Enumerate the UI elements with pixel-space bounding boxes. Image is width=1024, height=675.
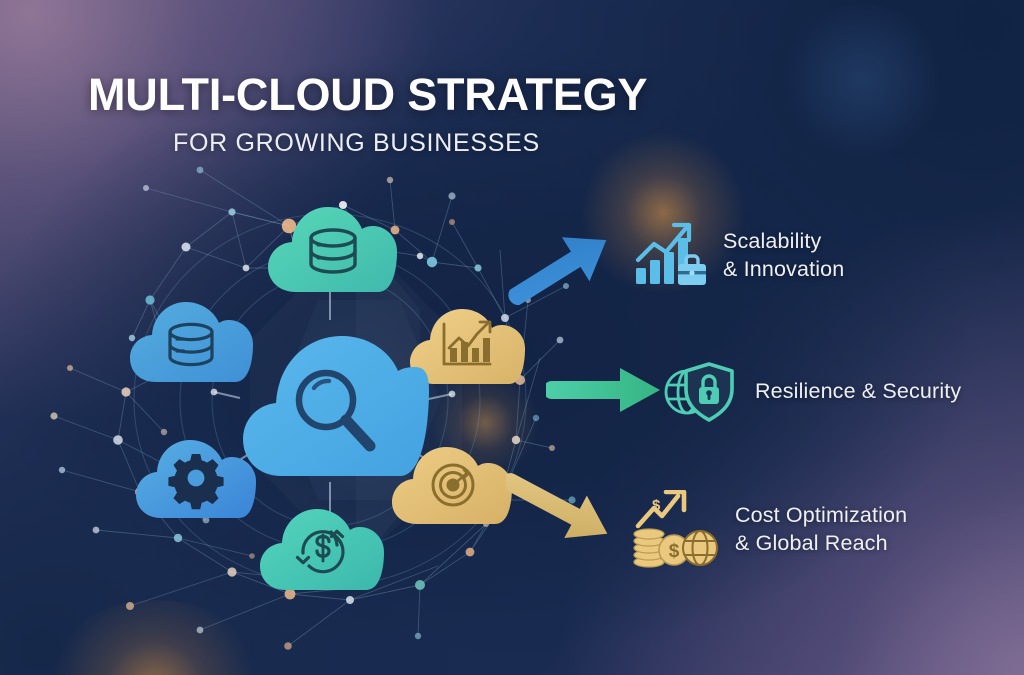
cloud-cost[interactable] xyxy=(258,498,388,598)
title-block: MULTI-CLOUD STRATEGY FOR GROWING BUSINES… xyxy=(88,72,647,158)
page-title: MULTI-CLOUD STRATEGY xyxy=(88,72,647,118)
gear-icon xyxy=(168,454,223,509)
arrow-resilience xyxy=(546,364,666,421)
benefit-label: Scalability & Innovation xyxy=(723,227,844,284)
infographic-canvas: MULTI-CLOUD STRATEGY FOR GROWING BUSINES… xyxy=(0,0,1024,675)
svg-text:$: $ xyxy=(652,497,661,514)
benefit-scalability[interactable]: Scalability & Innovation xyxy=(634,222,844,288)
svg-text:$: $ xyxy=(669,541,680,562)
cloud-database-top[interactable] xyxy=(266,196,400,300)
coins-globe-arrow-icon: $ $ xyxy=(632,490,720,568)
arrow-scalability xyxy=(508,222,634,315)
discovery-cloud[interactable] xyxy=(240,320,432,486)
target-icon xyxy=(433,465,473,505)
benefit-label: Cost Optimization & Global Reach xyxy=(735,501,907,558)
cloud-database-left[interactable] xyxy=(128,290,256,390)
bar-chart-briefcase-icon xyxy=(634,222,708,288)
globe-sub-icon xyxy=(683,531,717,565)
benefit-label: Resilience & Security xyxy=(755,377,961,405)
page-subtitle: FOR GROWING BUSINESSES xyxy=(173,129,647,158)
arrow-cost xyxy=(506,470,632,561)
benefit-cost[interactable]: $ $ Cost Optimization & Global Reach xyxy=(632,490,907,568)
benefit-resilience[interactable]: Resilience & Security xyxy=(662,358,961,424)
globe-shield-lock-icon xyxy=(662,358,740,424)
